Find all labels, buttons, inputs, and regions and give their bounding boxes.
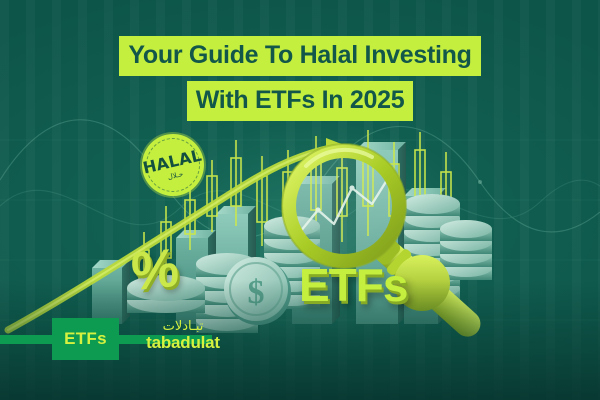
banner-canvas: $ % ET — [0, 0, 600, 400]
title-line-1: Your Guide To Halal Investing — [119, 36, 480, 76]
logo-arabic-name: تبـادلات — [127, 319, 239, 334]
logo-wordmark: تبـادلات tabadulat — [127, 318, 247, 360]
brand-logo[interactable]: ETFs تبـادلات tabadulat — [0, 318, 260, 360]
page-title: Your Guide To Halal Investing With ETFs … — [0, 36, 600, 121]
title-line-2: With ETFs In 2025 — [187, 81, 414, 121]
title-line-2-wrap: With ETFs In 2025 — [0, 81, 600, 121]
percent-symbol: % — [130, 240, 180, 299]
logo-badge: ETFs — [52, 318, 119, 360]
logo-badge-label: ETFs — [52, 318, 119, 360]
etfs-headline-word: ETFs — [299, 262, 407, 308]
logo-latin-name: tabadulat — [127, 333, 239, 353]
title-line-1-wrap: Your Guide To Halal Investing — [0, 36, 600, 76]
